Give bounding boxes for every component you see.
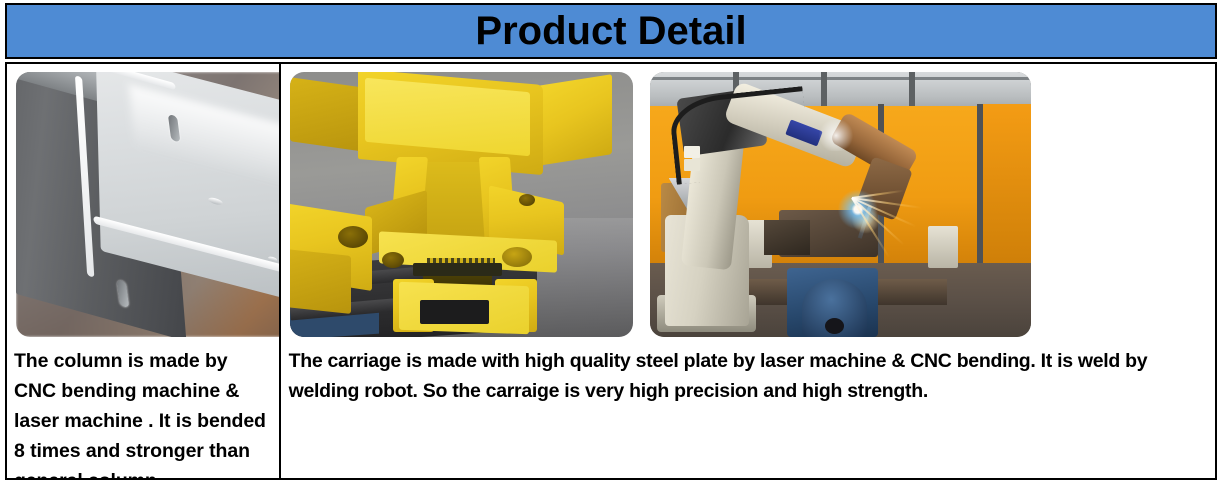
yellow-carriage-photo <box>290 72 633 337</box>
welding-robot-photo <box>650 72 1031 337</box>
header-bar: Product Detail <box>5 3 1217 59</box>
robot-label-2 <box>684 159 700 171</box>
cnc-bent-steel-column-photo <box>16 72 281 337</box>
carriage-hole-1 <box>338 226 368 248</box>
column-panel: The column is made by CNC bending machin… <box>7 64 281 478</box>
carriage-caption: The carriage is made with high quality s… <box>281 337 1215 406</box>
carriage-top-right-plate <box>537 74 612 165</box>
carriage-slot-upper <box>413 263 502 276</box>
carriage-photo-row <box>281 64 1215 337</box>
carriage-base-slot <box>420 300 489 324</box>
wall-post-2 <box>977 104 983 274</box>
page-title: Product Detail <box>475 11 746 51</box>
product-detail-page: Product Detail <box>0 0 1222 484</box>
column-caption: The column is made by CNC bending machin… <box>7 337 279 478</box>
robot-label-1 <box>684 146 700 158</box>
carriage-side-bracket-left-lower <box>290 248 352 314</box>
column-photo-row <box>7 64 279 337</box>
workpiece-fixture <box>764 220 810 254</box>
column-shape-group <box>16 72 281 337</box>
arc-reflection-glow <box>817 120 855 152</box>
carriage-hole-3 <box>502 247 532 267</box>
carriage-panel: The carriage is made with high quality s… <box>281 64 1215 478</box>
content-table: The column is made by CNC bending machin… <box>5 62 1217 480</box>
